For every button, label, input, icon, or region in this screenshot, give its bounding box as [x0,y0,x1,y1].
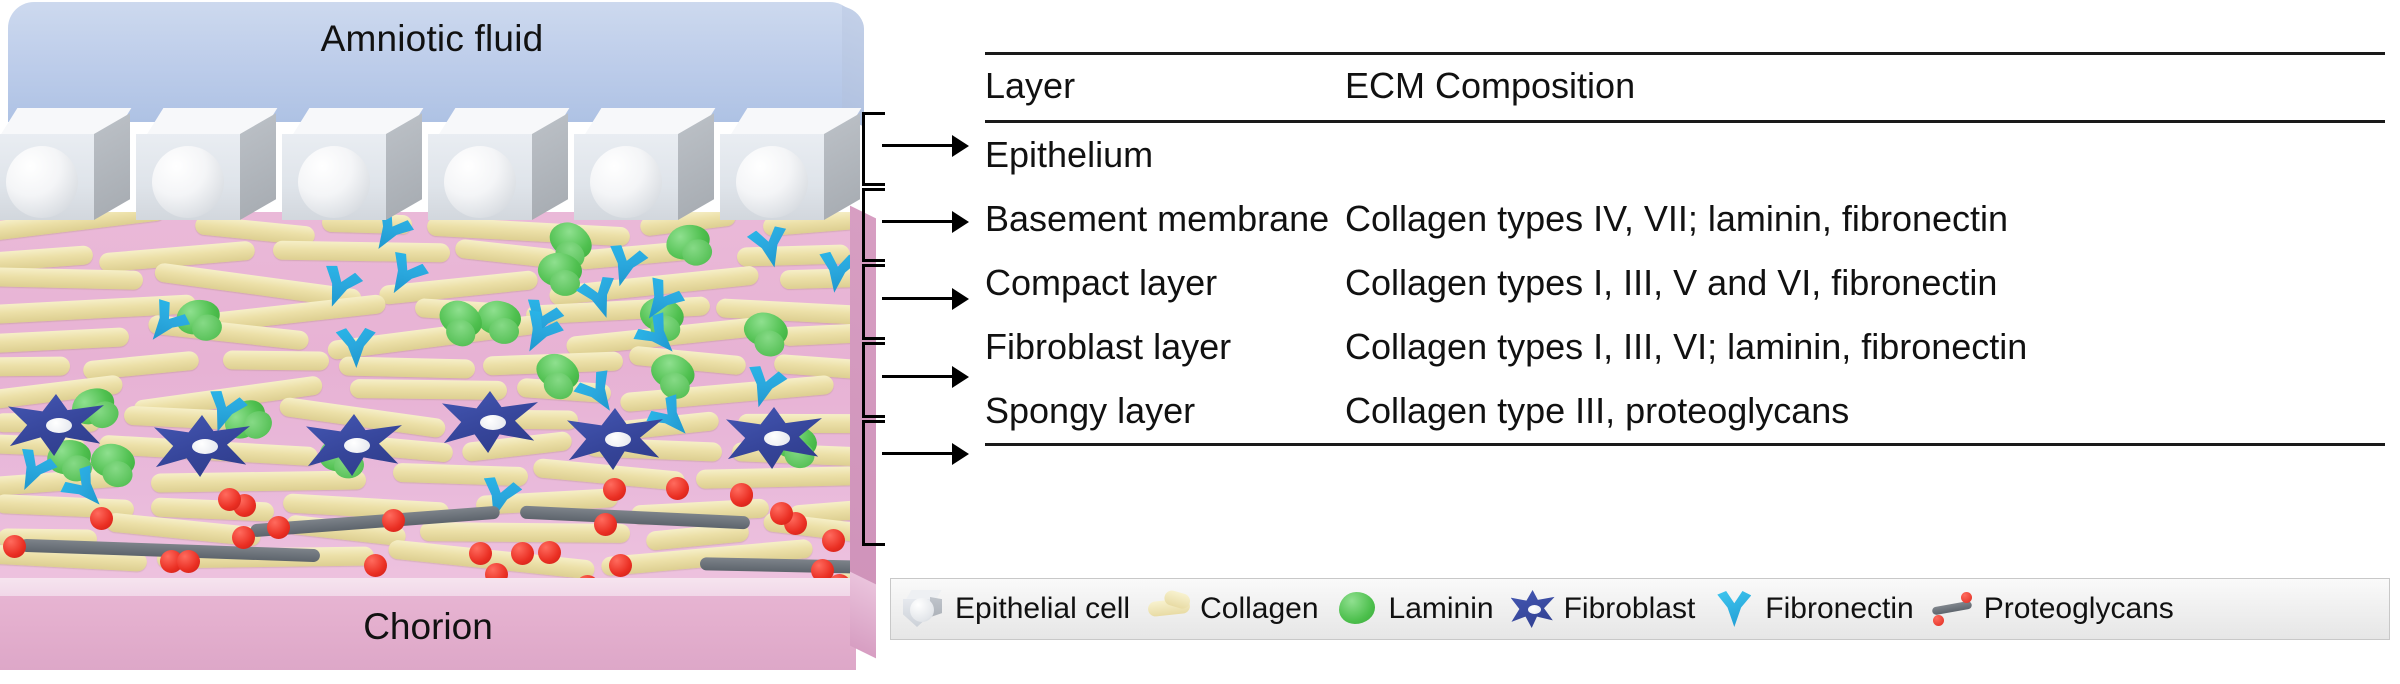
figure-legend: Epithelial cell Collagen Laminin Fibrobl… [890,578,2390,640]
epithelial-cell [574,108,724,220]
proteoglycan-dot [730,483,753,506]
arrow-line-spongy-layer [882,452,954,455]
proteoglycan-dot [3,535,26,558]
proteoglycan-dot [770,502,793,525]
table-row: Fibroblast layer Collagen types I, III, … [985,315,2385,379]
cell-layer: Compact layer [985,262,1345,304]
table-rule-bottom [985,443,2385,446]
collagen-fiber [350,379,507,400]
cell-layer: Spongy layer [985,390,1345,432]
proteoglycan-dot [538,541,561,564]
arrow-line-compact-layer [882,297,954,300]
cell-layer: Epithelium [985,134,1345,176]
cell-ecm: Collagen types I, III, VI; laminin, fibr… [1345,326,2385,368]
legend-item-epithelial-cell: Epithelial cell [901,586,1146,632]
epithelial-cell-icon [901,586,947,632]
ecm-region [0,212,856,596]
proteoglycan-dot [267,516,290,539]
collagen-fiber [0,267,143,290]
bracket-fibroblast-layer [862,342,885,418]
proteoglycan-dot [382,509,405,532]
bracket-epithelium [862,112,885,186]
nucleus-icon [444,146,516,218]
bracket-compact-layer [862,264,885,340]
epithelial-cell [720,108,870,220]
arrow-head-basement-membrane [952,211,969,233]
nucleus-icon [736,146,808,218]
table-row: Basement membrane Collagen types IV, VII… [985,187,2385,251]
table-header-row: Layer ECM Composition [985,55,2385,117]
nucleus-icon [298,146,370,218]
epithelial-cell [428,108,578,220]
cell-ecm: Collagen types IV, VII; laminin, fibrone… [1345,198,2385,240]
legend-item-fibronectin: Fibronectin [1711,586,1929,632]
collagen-fiber [780,323,856,347]
proteoglycan-dot [90,507,113,530]
legend-item-collagen: Collagen [1146,586,1334,632]
bracket-basement-membrane [862,188,885,262]
cell-ecm: Collagen type III, proteoglycans [1345,390,2385,432]
column-header-layer: Layer [985,65,1345,107]
epithelium-region [0,108,876,224]
collagen-fiber [696,466,856,489]
epithelial-cell [282,108,432,220]
legend-item-fibroblast: Fibroblast [1510,586,1712,632]
proteoglycan-dot [177,550,200,573]
legend-label: Collagen [1200,592,1318,626]
column-header-ecm: ECM Composition [1345,65,2385,107]
fibronectin-icon [1711,586,1757,632]
collagen-fiber [223,350,329,370]
nucleus-icon [590,146,662,218]
legend-label: Epithelial cell [955,592,1130,626]
collagen-fiber [393,463,529,486]
amniotic-membrane-diagram: Amniotic fluid Chorion [0,0,880,684]
proteoglycan-dot [822,529,845,552]
epithelial-cell [136,108,286,220]
collagen-fiber [0,327,129,354]
collagen-fiber [273,241,450,263]
proteoglycans-icon [1930,586,1976,632]
laminin-icon [1335,586,1381,632]
epithelial-cell [0,108,140,220]
table-row: Compact layer Collagen types I, III, V a… [985,251,2385,315]
legend-label: Laminin [1389,592,1494,626]
amniotic-fluid-label: Amniotic fluid [8,18,856,60]
proteoglycan-dot [594,513,617,536]
arrow-line-fibroblast-layer [882,375,954,378]
nucleus-icon [152,146,224,218]
collagen-fiber [620,375,835,413]
arrow-head-compact-layer [952,288,969,310]
collagen-fiber [151,470,366,492]
ecm-composition-table: Layer ECM Composition Epithelium Basemen… [985,52,2385,446]
proteoglycan-dot [218,488,241,511]
cell-layer: Basement membrane [985,198,1345,240]
table-row: Spongy layer Collagen type III, proteogl… [985,379,2385,443]
arrow-line-epithelium [882,144,954,147]
cell-layer: Fibroblast layer [985,326,1345,368]
legend-label: Proteoglycans [1984,592,2174,626]
fibroblast-icon [1510,586,1556,632]
bracket-spongy-layer [862,420,885,546]
proteoglycan-dot [364,554,387,577]
legend-label: Fibroblast [1564,592,1696,626]
chorion-label: Chorion [0,606,856,648]
collagen-icon [1146,586,1192,632]
proteoglycan-dot [511,542,534,565]
legend-item-laminin: Laminin [1335,586,1510,632]
arrow-head-spongy-layer [952,443,969,465]
collagen-fiber [0,357,70,377]
arrow-head-epithelium [952,135,969,157]
arrow-head-fibroblast-layer [952,366,969,388]
proteoglycan-dot [609,554,632,577]
table-row: Epithelium [985,123,2385,187]
proteoglycan-dot [469,542,492,565]
proteoglycan-dot [232,526,255,549]
legend-item-proteoglycans: Proteoglycans [1930,586,2190,632]
proteoglycan-dot [666,477,689,500]
legend-label: Fibronectin [1765,592,1913,626]
cell-ecm: Collagen types I, III, V and VI, fibrone… [1345,262,2385,304]
proteoglycan-dot [603,478,626,501]
arrow-line-basement-membrane [882,220,954,223]
nucleus-icon [6,146,78,218]
